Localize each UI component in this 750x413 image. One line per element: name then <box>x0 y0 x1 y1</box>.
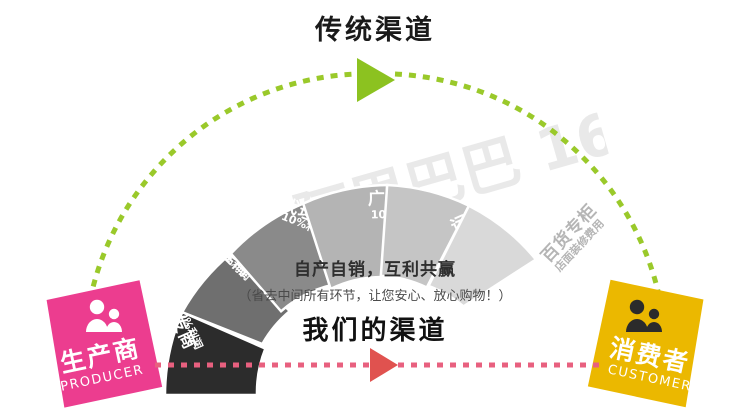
channel-comparison-diagram: 传统渠道 阿里巴巴 1688 总批发商 10%利润 省代理商 10%利润 <box>0 0 750 413</box>
center-headline: 自产自销，互利共赢 <box>175 255 575 280</box>
endpoint-customer[interactable]: 消费者 CUSTOMER <box>588 280 708 407</box>
center-message: 自产自销，互利共赢 （省去中间所有环节，让您安心、放心购物！） 我们的渠道 <box>175 255 575 347</box>
green-arrow-icon <box>357 58 395 102</box>
our-channel-title: 我们的渠道 <box>175 310 575 347</box>
center-subtext: （省去中间所有环节，让您安心、放心购物！） <box>175 285 575 304</box>
diagram-svg: 总批发商 10%利润 省代理商 10%利润 市代理商 10%利润 广告费 10%… <box>0 0 750 413</box>
endpoint-producer[interactable]: 生产商 PRODUCER <box>42 280 162 407</box>
pink-arrow-icon <box>370 348 398 382</box>
